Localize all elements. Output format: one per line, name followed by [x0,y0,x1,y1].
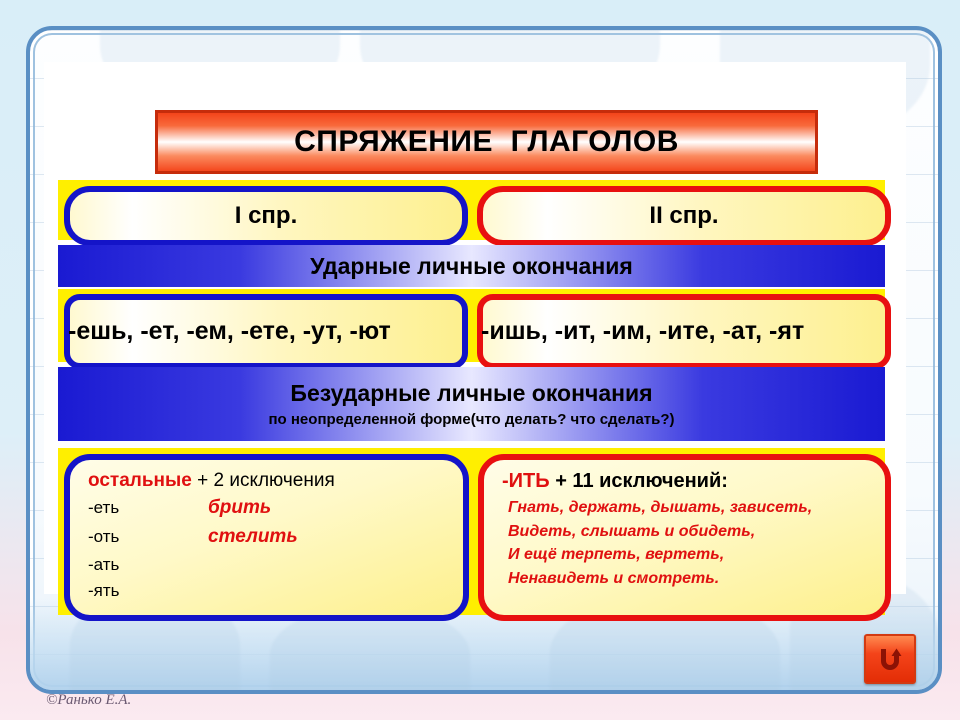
first-conjugation-lead: остальные + 2 исключения [88,470,463,492]
rule-row: -еть брить [88,494,463,523]
unstressed-endings-heading: Безударные личные окончания [290,380,652,407]
suffix-item: -ать [88,552,208,578]
page-title: СПРЯЖЕНИЕ ГЛАГОЛОВ [155,110,818,174]
rhyme-line: Ненавидеть и смотреть. [502,567,885,591]
rule-row: -оть стелить [88,523,463,552]
second-conjugation-rule-box: -ИТЬ + 11 исключений: Гнать, держать, ды… [478,454,891,621]
rule-row: -ать [88,552,463,578]
stressed-endings-heading: Ударные личные окончания [310,253,633,280]
suffix-item: -оть [88,524,208,550]
unstressed-endings-subheading: по неопределенной форме(что делать? что … [268,411,674,428]
second-conjugation-lead-black: + 11 исключений: [550,470,728,492]
exception-word: стелить [208,523,298,552]
first-conjugation-rule-box: остальные + 2 исключения -еть брить -оть… [64,454,469,621]
return-arrow-icon [875,644,905,674]
author-credit: ©Ранько Е.А. [46,692,131,709]
suffix-item: -ять [88,578,208,604]
rhyme-line: Видеть, слышать и обидеть, [502,520,885,544]
column-header-second-conjugation: II спр. [477,186,891,246]
stressed-endings-second-text: -ишь, -ит, -им, -ите, -ат, -ят [481,317,804,346]
first-conjugation-lead-black: + 2 исключения [192,470,335,491]
rhyme-line: И ещё терпеть, вертеть, [502,543,885,567]
second-conjugation-label: II спр. [649,202,718,230]
suffix-item: -еть [88,495,208,521]
exception-word: брить [208,494,271,523]
second-conjugation-lead-red: -ИТЬ [502,470,550,492]
stressed-endings-first: -ешь, -ет, -ем, -ете, -ут, -ют [64,294,468,369]
rhyme-line: Гнать, держать, дышать, зависеть, [502,496,885,520]
second-conjugation-lead: -ИТЬ + 11 исключений: [502,470,885,493]
rule-row: -ять [88,578,463,604]
slide-root: СПРЯЖЕНИЕ ГЛАГОЛОВ I спр. II спр. Ударны… [0,0,960,720]
first-conjugation-label: I спр. [235,202,298,230]
return-button[interactable] [864,634,916,684]
first-conjugation-lead-red: остальные [88,470,192,491]
page-title-text: СПРЯЖЕНИЕ ГЛАГОЛОВ [294,125,679,159]
stressed-endings-second: -ишь, -ит, -им, -ите, -ат, -ят [477,294,891,369]
column-header-first-conjugation: I спр. [64,186,468,246]
stressed-endings-first-text: -ешь, -ет, -ем, -ете, -ут, -ют [68,317,391,346]
unstressed-endings-heading-bar: Безударные личные окончания по неопредел… [58,367,885,441]
stressed-endings-heading-bar: Ударные личные окончания [58,245,885,287]
